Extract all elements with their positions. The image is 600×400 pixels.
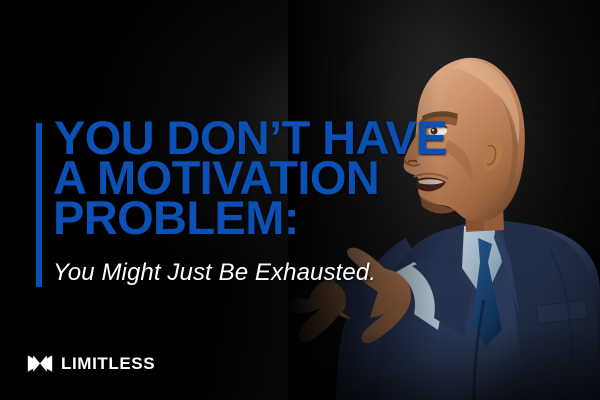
headline-line-3: PROBLEM: <box>53 198 474 238</box>
headline: YOU DON’T HAVE A MOTIVATION PROBLEM: <box>54 118 474 238</box>
logo-lockup: LIMITLESS <box>27 354 155 373</box>
logo-wordmark: LIMITLESS <box>61 354 155 373</box>
subtitle: You Might Just Be Exhausted. <box>53 259 376 287</box>
limitless-bowtie-mark <box>27 354 53 373</box>
banner-root: YOU DON’T HAVE A MOTIVATION PROBLEM: You… <box>0 0 600 400</box>
vertical-accent-rule <box>36 123 42 287</box>
